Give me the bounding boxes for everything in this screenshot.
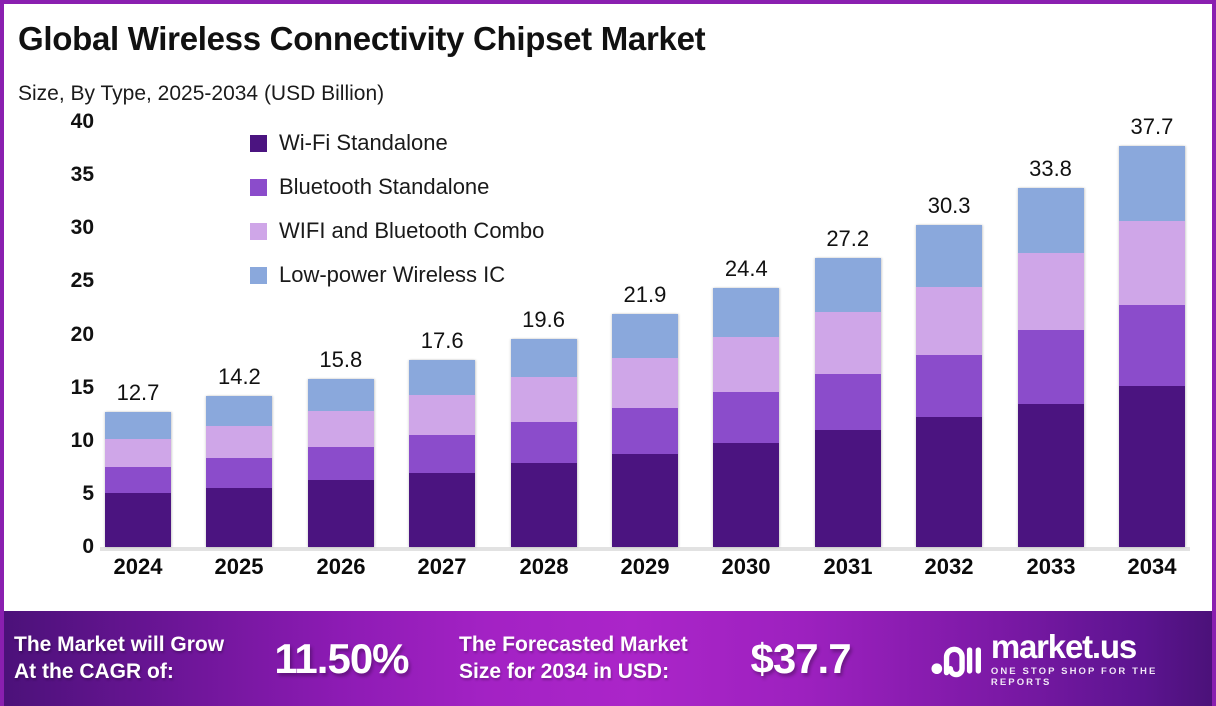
- cagr-label: The Market will GrowAt the CAGR of:: [14, 632, 274, 686]
- bar-segment-wifi-and-bluetooth-combo: [612, 358, 678, 408]
- x-tick-2026: 2026: [286, 554, 396, 580]
- cagr-text-line-1: At the CAGR of:: [14, 659, 274, 686]
- chart-card: Global Wireless Connectivity Chipset Mar…: [4, 4, 1212, 615]
- forecast-value: $37.7: [750, 635, 925, 683]
- bar-value-label: 24.4: [725, 256, 768, 282]
- legend-item-3[interactable]: Low-power Wireless IC: [250, 262, 544, 288]
- bar-segment-wifi-and-bluetooth-combo: [1018, 253, 1084, 331]
- logo-wordmark: market.us: [991, 630, 1136, 663]
- legend-item-2[interactable]: WIFI and Bluetooth Combo: [250, 218, 544, 244]
- bar-value-label: 33.8: [1029, 156, 1072, 182]
- legend-swatch-icon: [250, 135, 267, 152]
- bar-segment-wifi-and-bluetooth-combo: [1119, 221, 1185, 305]
- legend-swatch-icon: [250, 179, 267, 196]
- bar-segment-wifi-and-bluetooth-combo: [511, 377, 577, 422]
- legend-label: Wi-Fi Standalone: [279, 130, 448, 156]
- bar-column-2034[interactable]: 37.7: [1114, 122, 1190, 547]
- bar-segment-bluetooth-standalone: [105, 467, 171, 493]
- bar-segment-bluetooth-standalone: [308, 447, 374, 480]
- bar-segment-wi-fi-standalone: [1018, 404, 1084, 547]
- bar-segment-low-power-wireless-ic: [815, 258, 881, 312]
- bar-segment-bluetooth-standalone: [511, 422, 577, 463]
- cagr-text-line-0: The Market will Grow: [14, 632, 274, 659]
- bar-segment-wifi-and-bluetooth-combo: [815, 312, 881, 374]
- x-tick-2030: 2030: [691, 554, 801, 580]
- legend-label: Low-power Wireless IC: [279, 262, 505, 288]
- x-tick-2025: 2025: [184, 554, 294, 580]
- bar-value-label: 12.7: [117, 380, 160, 406]
- bar-segment-wi-fi-standalone: [612, 454, 678, 548]
- y-tick-15: 15: [24, 376, 94, 400]
- bar-segment-low-power-wireless-ic: [713, 288, 779, 337]
- bar-stack: [713, 288, 779, 547]
- bar-segment-wi-fi-standalone: [713, 443, 779, 547]
- chart-subtitle: Size, By Type, 2025-2034 (USD Billion): [18, 82, 384, 106]
- bar-segment-low-power-wireless-ic: [206, 396, 272, 426]
- y-tick-25: 25: [24, 269, 94, 293]
- bar-segment-bluetooth-standalone: [612, 408, 678, 454]
- bar-stack: [815, 258, 881, 547]
- bar-stack: [916, 225, 982, 547]
- bar-segment-wifi-and-bluetooth-combo: [713, 337, 779, 392]
- bar-segment-bluetooth-standalone: [916, 355, 982, 418]
- bar-value-label: 19.6: [522, 307, 565, 333]
- x-tick-2031: 2031: [793, 554, 903, 580]
- legend-label: Bluetooth Standalone: [279, 174, 489, 200]
- bar-value-label: 14.2: [218, 364, 261, 390]
- x-tick-2034: 2034: [1097, 554, 1207, 580]
- x-tick-2027: 2027: [387, 554, 497, 580]
- y-tick-5: 5: [24, 482, 94, 506]
- y-tick-40: 40: [24, 110, 94, 134]
- bar-stack: [1018, 188, 1084, 547]
- cagr-value: 11.50%: [274, 635, 459, 683]
- bar-segment-low-power-wireless-ic: [105, 412, 171, 439]
- bar-segment-wi-fi-standalone: [308, 480, 374, 547]
- bar-segment-wi-fi-standalone: [916, 417, 982, 547]
- footer-banner: The Market will GrowAt the CAGR of: 11.5…: [0, 611, 1216, 706]
- bar-segment-wi-fi-standalone: [206, 488, 272, 548]
- bar-segment-bluetooth-standalone: [1018, 330, 1084, 403]
- y-tick-35: 35: [24, 163, 94, 187]
- bar-stack: [409, 360, 475, 547]
- bar-segment-bluetooth-standalone: [1119, 305, 1185, 386]
- bar-column-2030[interactable]: 24.4: [708, 122, 784, 547]
- legend-swatch-icon: [250, 223, 267, 240]
- bar-segment-wifi-and-bluetooth-combo: [409, 395, 475, 435]
- bar-column-2031[interactable]: 27.2: [810, 122, 886, 547]
- bar-segment-bluetooth-standalone: [815, 374, 881, 430]
- x-tick-2028: 2028: [489, 554, 599, 580]
- bar-segment-wi-fi-standalone: [815, 430, 881, 547]
- bar-stack: [612, 314, 678, 547]
- y-tick-10: 10: [24, 429, 94, 453]
- axis-baseline: [100, 547, 1190, 551]
- logo-mark-icon: [931, 639, 981, 679]
- bar-segment-bluetooth-standalone: [409, 435, 475, 472]
- forecast-text-line-0: The Forecasted Market: [459, 632, 750, 659]
- y-tick-20: 20: [24, 323, 94, 347]
- bar-segment-low-power-wireless-ic: [409, 360, 475, 395]
- forecast-label: The Forecasted MarketSize for 2034 in US…: [459, 632, 750, 686]
- bar-value-label: 17.6: [421, 328, 464, 354]
- bar-segment-low-power-wireless-ic: [1119, 146, 1185, 220]
- bar-segment-wi-fi-standalone: [105, 493, 171, 547]
- bar-column-2024[interactable]: 12.7: [100, 122, 176, 547]
- chart-legend: Wi-Fi StandaloneBluetooth StandaloneWIFI…: [250, 130, 544, 288]
- legend-swatch-icon: [250, 267, 267, 284]
- bar-segment-wi-fi-standalone: [409, 473, 475, 547]
- bar-segment-low-power-wireless-ic: [916, 225, 982, 287]
- bar-stack: [105, 412, 171, 547]
- bar-stack: [206, 396, 272, 547]
- forecast-text-line-1: Size for 2034 in USD:: [459, 659, 750, 686]
- bar-value-label: 21.9: [624, 282, 667, 308]
- bar-column-2033[interactable]: 33.8: [1013, 122, 1089, 547]
- bar-stack: [511, 339, 577, 547]
- bar-segment-wifi-and-bluetooth-combo: [105, 439, 171, 468]
- bar-stack: [1119, 146, 1185, 547]
- bar-segment-low-power-wireless-ic: [612, 314, 678, 358]
- x-tick-2024: 2024: [83, 554, 193, 580]
- infographic-page: Global Wireless Connectivity Chipset Mar…: [0, 0, 1216, 706]
- bar-value-label: 27.2: [826, 226, 869, 252]
- legend-item-1[interactable]: Bluetooth Standalone: [250, 174, 544, 200]
- bar-stack: [308, 379, 374, 547]
- bar-segment-low-power-wireless-ic: [308, 379, 374, 411]
- x-tick-2033: 2033: [996, 554, 1106, 580]
- page-title: Global Wireless Connectivity Chipset Mar…: [18, 20, 705, 58]
- bar-segment-wifi-and-bluetooth-combo: [206, 426, 272, 458]
- bar-segment-bluetooth-standalone: [206, 458, 272, 488]
- x-tick-2032: 2032: [894, 554, 1004, 580]
- x-tick-2029: 2029: [590, 554, 700, 580]
- bar-segment-wi-fi-standalone: [1119, 386, 1185, 548]
- bar-segment-low-power-wireless-ic: [1018, 188, 1084, 253]
- bar-segment-wifi-and-bluetooth-combo: [308, 411, 374, 447]
- bar-segment-bluetooth-standalone: [713, 392, 779, 443]
- logo-tagline: ONE STOP SHOP FOR THE REPORTS: [991, 666, 1216, 688]
- bar-column-2029[interactable]: 21.9: [607, 122, 683, 547]
- market-us-logo[interactable]: market.us ONE STOP SHOP FOR THE REPORTS: [931, 630, 1216, 688]
- bar-value-label: 30.3: [928, 193, 971, 219]
- y-tick-30: 30: [24, 216, 94, 240]
- bar-segment-wi-fi-standalone: [511, 463, 577, 547]
- legend-label: WIFI and Bluetooth Combo: [279, 218, 544, 244]
- legend-item-0[interactable]: Wi-Fi Standalone: [250, 130, 544, 156]
- bar-segment-wifi-and-bluetooth-combo: [916, 287, 982, 355]
- logo-text: market.us ONE STOP SHOP FOR THE REPORTS: [991, 630, 1216, 688]
- bar-value-label: 37.7: [1130, 114, 1173, 140]
- bar-column-2032[interactable]: 30.3: [911, 122, 987, 547]
- bar-value-label: 15.8: [319, 347, 362, 373]
- bar-segment-low-power-wireless-ic: [511, 339, 577, 377]
